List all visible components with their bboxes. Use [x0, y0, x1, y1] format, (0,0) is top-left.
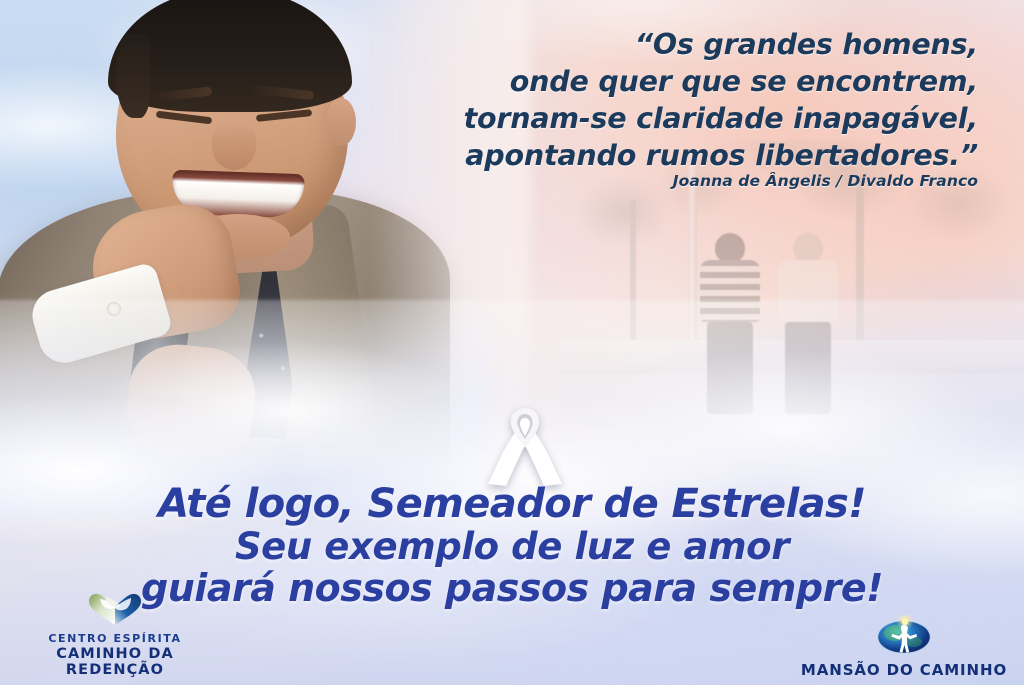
- quote-block: “Os grandes homens, onde quer que se enc…: [338, 26, 978, 174]
- logo-centro-espirita: CENTRO ESPÍRITA CAMINHO DA REDENÇÃO: [10, 592, 220, 679]
- quote-line-2: onde quer que se encontrem,: [338, 63, 978, 100]
- hair: [108, 0, 352, 112]
- nose: [212, 122, 256, 170]
- quote-line-1: “Os grandes homens,: [338, 26, 978, 63]
- figure-head: [793, 233, 823, 263]
- globe-figure-icon: [794, 615, 1014, 659]
- hands-heart-icon: [10, 592, 220, 630]
- figure-head: [715, 233, 745, 263]
- white-mourning-ribbon-icon: [486, 406, 564, 490]
- headline-line-2: Seu exemplo de luz e amor: [0, 528, 1024, 566]
- quote-line-3: tornam-se claridade inapagável,: [338, 100, 978, 137]
- logo-right-line-2: MANSÃO DO CAMINHO: [794, 662, 1014, 679]
- logo-left-line-1: CENTRO ESPÍRITA: [10, 633, 220, 646]
- logo-mansao-do-caminho: MANSÃO DO CAMINHO: [794, 615, 1014, 679]
- memorial-poster: “Os grandes homens, onde quer que se enc…: [0, 0, 1024, 685]
- headline-line-1: Até logo, Semeador de Estrelas!: [0, 484, 1024, 525]
- quote-attribution: Joanna de Ângelis / Divaldo Franco: [338, 172, 978, 190]
- quote-line-4: apontando rumos libertadores.”: [338, 137, 978, 174]
- logo-left-line-2: CAMINHO DA REDENÇÃO: [10, 646, 220, 679]
- headline-block: Até logo, Semeador de Estrelas! Seu exem…: [0, 484, 1024, 607]
